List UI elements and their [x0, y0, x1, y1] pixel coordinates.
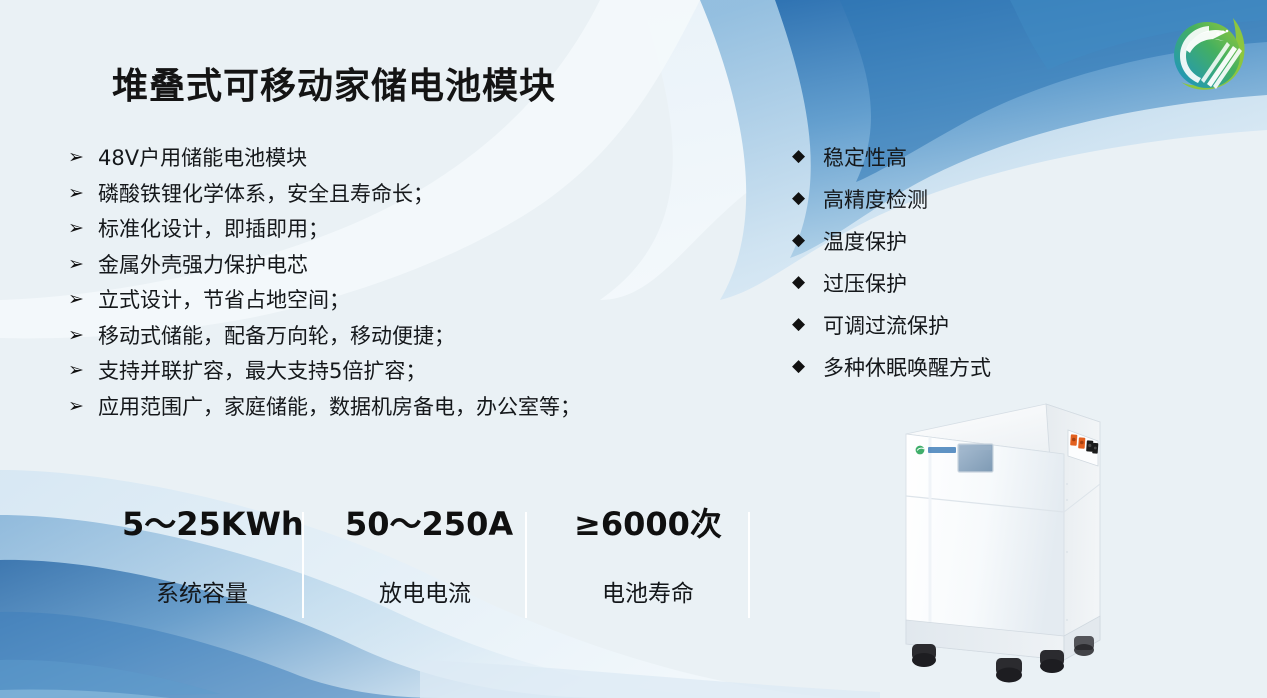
list-item: ➢ 移动式储能，配备万向轮，移动便捷； [68, 326, 708, 347]
page-title: 堆叠式可移动家储电池模块 [112, 57, 556, 109]
diamond-bullet-icon: ◆ [792, 358, 823, 376]
arrow-bullet-icon: ➢ [68, 326, 98, 346]
list-item: ➢ 应用范围广，家庭储能，数据机房备电，办公室等； [68, 397, 708, 418]
product-image [878, 392, 1118, 692]
spec-item-capacity: 5～25KWh 系统容量 [122, 508, 282, 606]
arrow-bullet-icon: ➢ [68, 361, 98, 381]
diamond-bullet-icon: ◆ [792, 148, 823, 166]
list-item-label: 温度保护 [823, 232, 1092, 253]
list-item: ◆ 可调过流保护 [792, 316, 1092, 337]
logo-icon [1163, 8, 1255, 100]
list-item: ◆ 温度保护 [792, 232, 1092, 253]
spec-item-lifespan: ≥6000次 电池寿命 [568, 508, 728, 606]
list-item: ➢ 金属外壳强力保护电芯 [68, 255, 708, 276]
list-item-label: 标准化设计，即插即用； [98, 219, 708, 240]
list-item-label: 应用范围广，家庭储能，数据机房备电，办公室等； [98, 397, 708, 418]
list-item-label: 支持并联扩容，最大支持5倍扩容； [98, 361, 708, 382]
caster-wheel [996, 658, 1022, 683]
spec-label: 电池寿命 [568, 583, 728, 606]
diamond-bullet-icon: ◆ [792, 232, 823, 250]
diamond-bullet-icon: ◆ [792, 274, 823, 292]
arrow-bullet-icon: ➢ [68, 397, 98, 417]
arrow-bullet-icon: ➢ [68, 255, 98, 275]
diamond-bullet-icon: ◆ [792, 316, 823, 334]
spec-highlights: 5～25KWh 系统容量 50～250A 放电电流 ≥6000次 电池寿命 [60, 508, 760, 620]
list-item: ◆ 高精度检测 [792, 190, 1092, 211]
list-item: ➢ 标准化设计，即插即用； [68, 219, 708, 240]
list-item-label: 移动式储能，配备万向轮，移动便捷； [98, 326, 708, 347]
feature-list-right: ◆ 稳定性高 ◆ 高精度检测 ◆ 温度保护 ◆ 过压保护 ◆ 可调过流保护 ◆ … [792, 148, 1092, 400]
spec-label: 系统容量 [122, 583, 282, 606]
list-item-label: 高精度检测 [823, 190, 1092, 211]
arrow-bullet-icon: ➢ [68, 184, 98, 204]
list-item: ◆ 过压保护 [792, 274, 1092, 295]
spec-divider [748, 512, 750, 618]
spec-divider [525, 512, 527, 618]
spec-value: 50～250A [345, 508, 505, 540]
list-item-label: 多种休眠唤醒方式 [823, 358, 1092, 379]
list-item-label: 过压保护 [823, 274, 1092, 295]
arrow-bullet-icon: ➢ [68, 148, 98, 168]
slide-canvas: 堆叠式可移动家储电池模块 ➢ 48V户用储能电池模块 ➢ 磷酸铁锂化学体系，安全… [0, 0, 1267, 698]
diamond-bullet-icon: ◆ [792, 190, 823, 208]
list-item-label: 稳定性高 [823, 148, 1092, 169]
caster-wheel [1040, 650, 1064, 673]
list-item-label: 金属外壳强力保护电芯 [98, 255, 708, 276]
list-item-label: 可调过流保护 [823, 316, 1092, 337]
list-item: ➢ 磷酸铁锂化学体系，安全且寿命长； [68, 184, 708, 205]
spec-item-current: 50～250A 放电电流 [345, 508, 505, 606]
list-item-label: 48V户用储能电池模块 [98, 148, 708, 169]
battery-cabinet-illustration [878, 392, 1118, 692]
caster-wheel [1074, 636, 1094, 656]
list-item: ➢ 48V户用储能电池模块 [68, 148, 708, 169]
spec-value: ≥6000次 [568, 508, 728, 540]
feature-list-left: ➢ 48V户用储能电池模块 ➢ 磷酸铁锂化学体系，安全且寿命长； ➢ 标准化设计… [68, 148, 708, 432]
company-logo [1163, 8, 1255, 100]
caster-wheel [912, 644, 936, 667]
list-item: ➢ 立式设计，节省占地空间； [68, 290, 708, 311]
list-item: ◆ 多种休眠唤醒方式 [792, 358, 1092, 379]
spec-value: 5～25KWh [122, 508, 282, 540]
arrow-bullet-icon: ➢ [68, 290, 98, 310]
list-item-label: 磷酸铁锂化学体系，安全且寿命长； [98, 184, 708, 205]
list-item-label: 立式设计，节省占地空间； [98, 290, 708, 311]
list-item: ➢ 支持并联扩容，最大支持5倍扩容； [68, 361, 708, 382]
list-item: ◆ 稳定性高 [792, 148, 1092, 169]
spec-label: 放电电流 [345, 583, 505, 606]
arrow-bullet-icon: ➢ [68, 219, 98, 239]
